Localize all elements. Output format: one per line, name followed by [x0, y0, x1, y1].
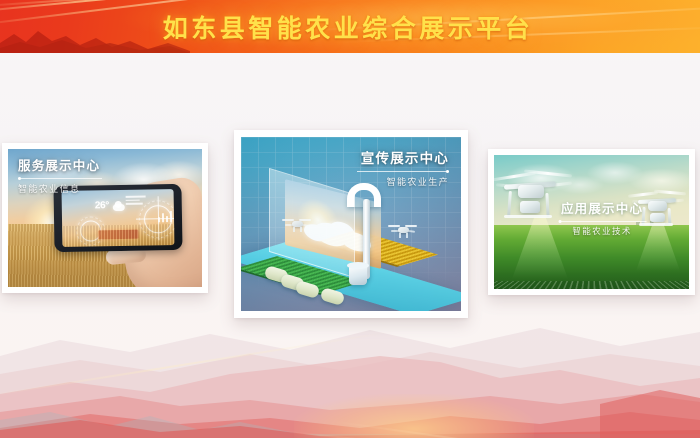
- card-subtitle: 智能农业信息: [18, 182, 102, 195]
- card-title: 服务展示中心: [18, 159, 102, 174]
- caption-divider: [558, 221, 646, 222]
- landscape-light-ray: [330, 420, 700, 438]
- iso-water-tank: [349, 265, 367, 285]
- hud-crosshair-horizontal: [136, 218, 174, 220]
- caption-divider: [357, 171, 449, 172]
- caption-divider: [18, 178, 102, 179]
- caption-app: 应用展示中心 智能农业技术: [558, 202, 646, 237]
- card-title: 宣传展示中心: [357, 151, 449, 167]
- hud-crosshair-vertical: [158, 196, 160, 240]
- landscape-sun-glow: [294, 394, 534, 438]
- hud-gauge-ring: [80, 220, 101, 241]
- hud-gauge-ring-outer: [76, 216, 106, 246]
- caption-promo: 宣传展示中心 智能农业生产: [357, 151, 449, 188]
- card-promotion-display-center[interactable]: 宣传展示中心 智能农业生产: [234, 130, 468, 318]
- hud-target-ring: [144, 205, 172, 233]
- card-title: 应用展示中心: [558, 202, 646, 217]
- card-subtitle: 智能农业技术: [558, 225, 646, 237]
- caption-service: 服务展示中心 智能农业信息: [18, 159, 102, 195]
- header-banner: 如东县智能农业综合展示平台: [0, 0, 700, 53]
- card-promo-inner: 宣传展示中心 智能农业生产: [241, 137, 461, 311]
- card-application-display-center[interactable]: 应用展示中心 智能农业技术: [488, 149, 695, 295]
- hud-info-strip: [98, 230, 138, 240]
- phone-screen: 26°: [62, 189, 175, 247]
- hud-temperature: 26°: [95, 200, 109, 211]
- page-title: 如东县智能农业综合展示平台: [0, 0, 700, 53]
- card-app-inner: 应用展示中心 智能农业技术: [494, 155, 689, 289]
- crop-rows: [494, 281, 689, 289]
- landscape-light-ray: [280, 430, 579, 438]
- landscape-light-ray: [0, 330, 395, 398]
- hud-bar-chart: [158, 211, 172, 222]
- hud-data-bars: [126, 196, 146, 205]
- background-landscape: [0, 308, 700, 438]
- card-service-display-center[interactable]: 26° 服务展示中心 智能农业信息: [2, 143, 208, 293]
- hud-target-ring-outer: [139, 200, 175, 239]
- mountain-layers: [0, 308, 700, 438]
- weather-cloud-icon: [113, 204, 125, 211]
- poster-page: 如东县智能农业综合展示平台: [0, 0, 700, 438]
- card-service-inner: 26° 服务展示中心 智能农业信息: [8, 149, 202, 287]
- card-subtitle: 智能农业生产: [357, 175, 449, 188]
